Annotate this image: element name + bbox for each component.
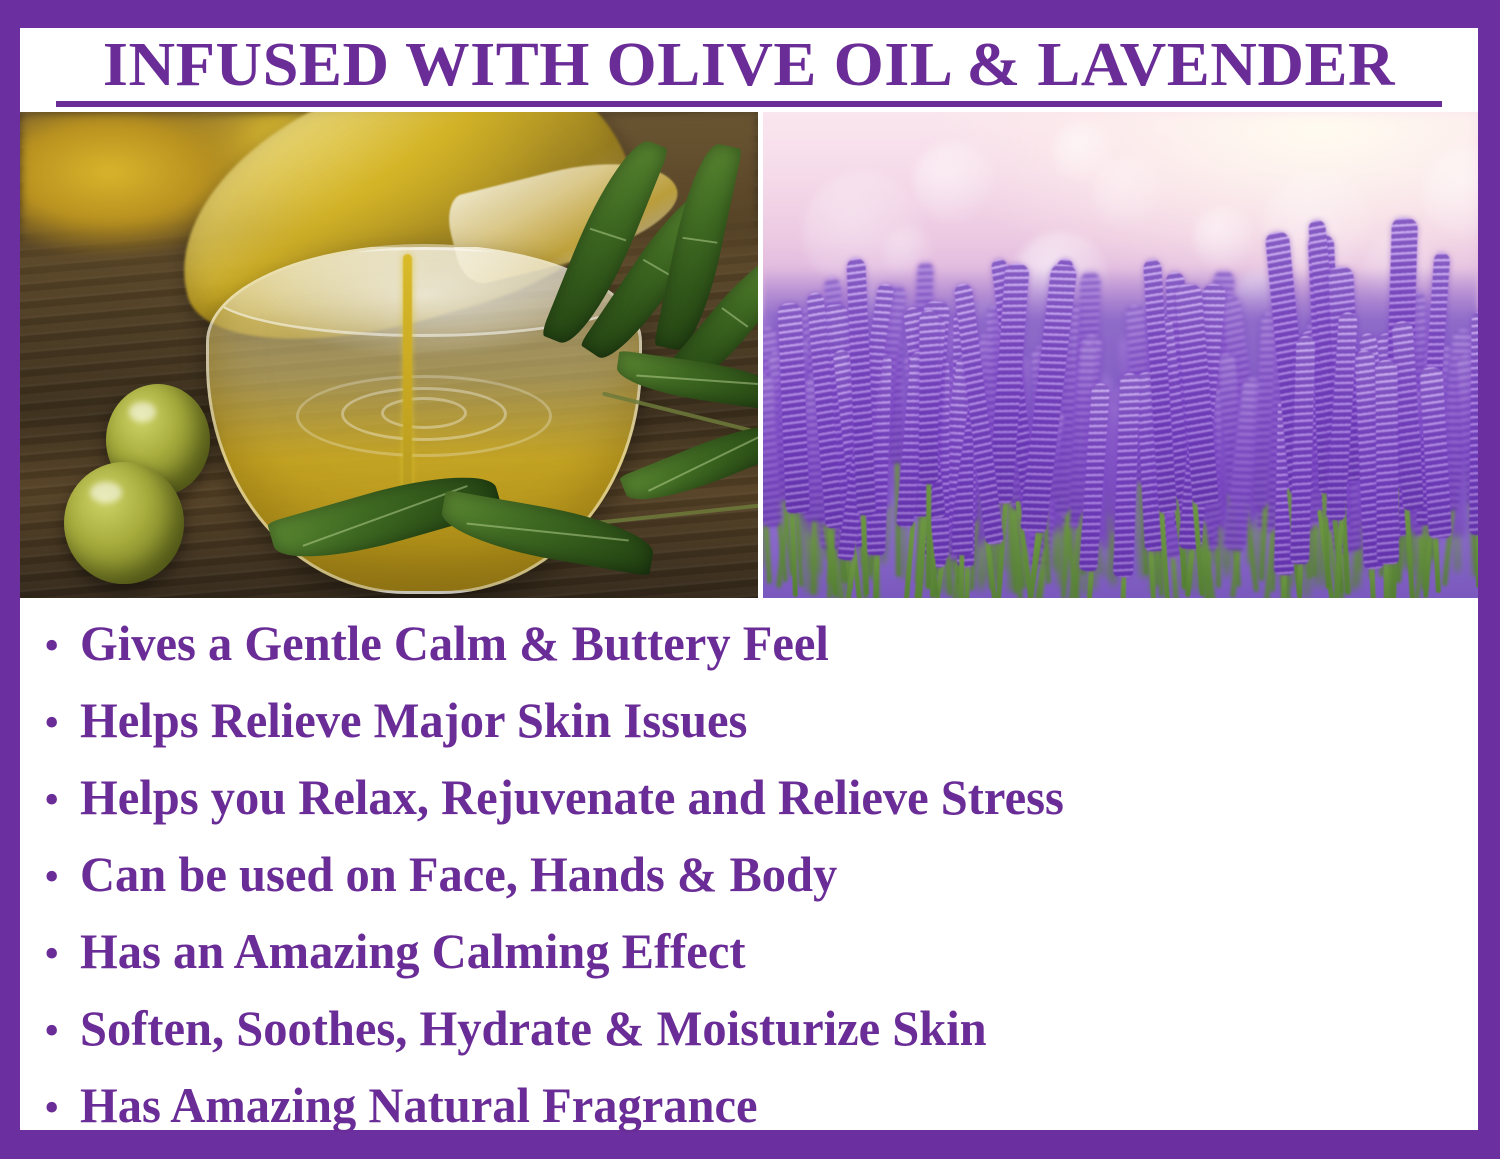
list-item: •Gives a Gentle Calm & Buttery Feel bbox=[20, 614, 1478, 691]
lavender-photo bbox=[763, 112, 1478, 598]
list-item: •Has an Amazing Calming Effect bbox=[20, 922, 1478, 999]
benefit-label: Has an Amazing Calming Effect bbox=[80, 922, 746, 980]
bullet-icon: • bbox=[44, 701, 80, 745]
benefits-list: •Gives a Gentle Calm & Buttery Feel•Help… bbox=[20, 614, 1478, 1153]
title-band: INFUSED WITH OLIVE OIL & LAVENDER bbox=[20, 28, 1478, 112]
bullet-icon: • bbox=[44, 778, 80, 822]
list-item: •Helps Relieve Major Skin Issues bbox=[20, 691, 1478, 768]
pouring-oil-stream bbox=[403, 254, 412, 514]
list-item: •Soften, Soothes, Hydrate & Moisturize S… bbox=[20, 999, 1478, 1076]
benefit-label: Soften, Soothes, Hydrate & Moisturize Sk… bbox=[80, 999, 987, 1057]
green-olive bbox=[64, 462, 184, 584]
bullet-icon: • bbox=[44, 855, 80, 899]
benefit-label: Can be used on Face, Hands & Body bbox=[80, 845, 837, 903]
benefits-panel: •Gives a Gentle Calm & Buttery Feel•Help… bbox=[20, 598, 1478, 1130]
bullet-icon: • bbox=[44, 1086, 80, 1130]
benefit-label: Gives a Gentle Calm & Buttery Feel bbox=[80, 614, 829, 672]
oil-ripple bbox=[296, 375, 552, 457]
bokeh-circle bbox=[1053, 122, 1113, 182]
title-underline bbox=[56, 101, 1442, 107]
benefit-label: Helps Relieve Major Skin Issues bbox=[80, 691, 747, 749]
photo-strip bbox=[20, 112, 1478, 598]
list-item: •Has Amazing Natural Fragrance bbox=[20, 1076, 1478, 1153]
lavender-stem bbox=[1312, 518, 1318, 577]
olive-oil-photo bbox=[20, 112, 758, 598]
product-feature-infographic: INFUSED WITH OLIVE OIL & LAVENDER bbox=[0, 0, 1500, 1159]
bokeh-circle bbox=[1193, 207, 1253, 267]
lavender-stem bbox=[926, 478, 931, 589]
benefit-label: Helps you Relax, Rejuvenate and Relieve … bbox=[80, 768, 1064, 826]
lavender-spike bbox=[919, 310, 939, 484]
list-item: •Helps you Relax, Rejuvenate and Relieve… bbox=[20, 768, 1478, 845]
benefit-label: Has Amazing Natural Fragrance bbox=[80, 1076, 758, 1134]
lavender-spike bbox=[1375, 360, 1399, 564]
lavender-spike bbox=[1469, 311, 1478, 535]
bokeh-circle bbox=[913, 142, 993, 222]
lavender-stem bbox=[1476, 528, 1478, 588]
lavender-stem bbox=[959, 549, 964, 598]
bullet-icon: • bbox=[44, 624, 80, 668]
list-item: •Can be used on Face, Hands & Body bbox=[20, 845, 1478, 922]
bullet-icon: • bbox=[44, 1009, 80, 1053]
lavender-stem bbox=[1454, 529, 1460, 572]
page-title: INFUSED WITH OLIVE OIL & LAVENDER bbox=[0, 30, 1500, 100]
bullet-icon: • bbox=[44, 932, 80, 976]
